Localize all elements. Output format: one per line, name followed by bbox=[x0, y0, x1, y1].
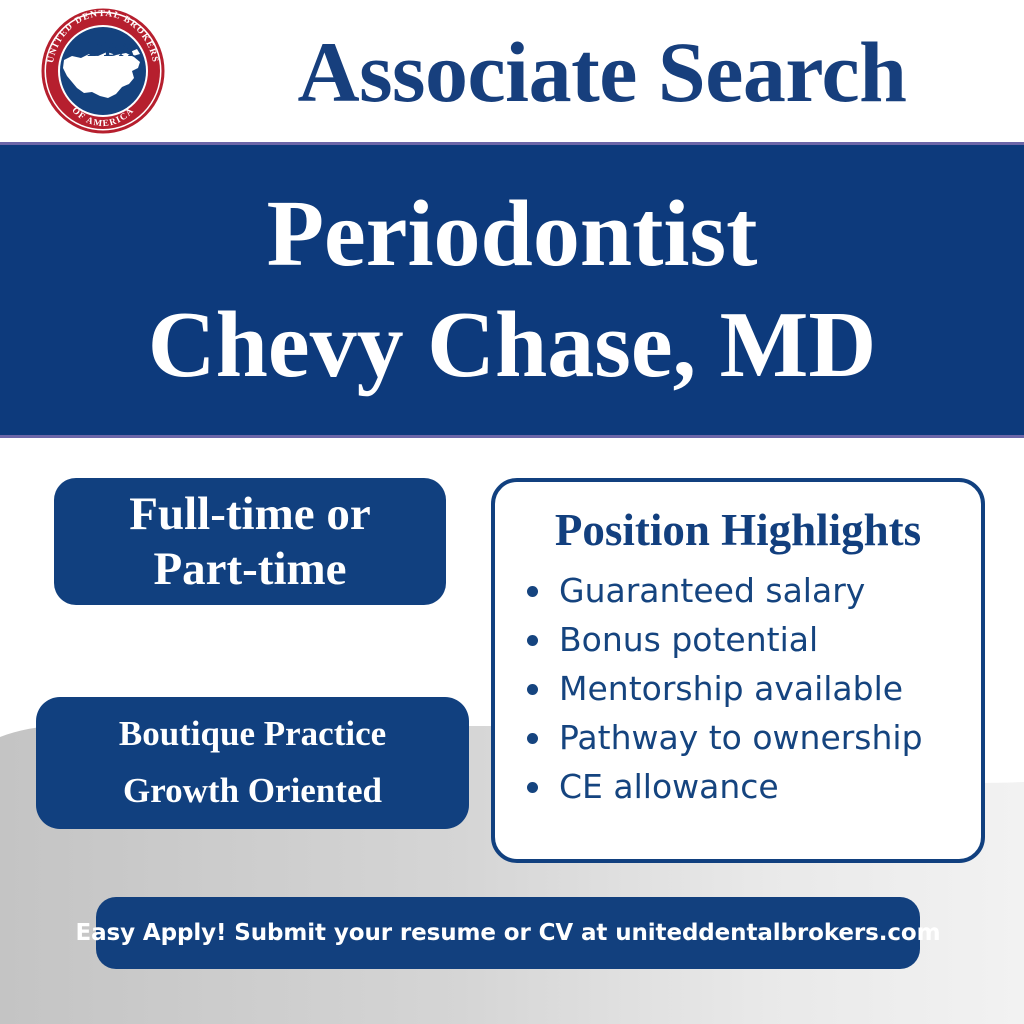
poster-header: UDBA UNITED DENTAL BROKERS OF AMERICA As… bbox=[0, 0, 1024, 141]
list-item: Guaranteed salary bbox=[519, 566, 981, 615]
list-item-label: CE allowance bbox=[559, 767, 779, 806]
list-item: CE allowance bbox=[519, 762, 981, 811]
job-posting-poster: UDBA UNITED DENTAL BROKERS OF AMERICA As… bbox=[0, 0, 1024, 1024]
badge-schedule: Full-time or Part-time bbox=[54, 478, 446, 605]
badge-practice-line-2: Growth Oriented bbox=[123, 763, 382, 820]
apply-cta-label: Easy Apply! Submit your resume or CV at … bbox=[75, 920, 940, 946]
bullet-dot-icon bbox=[527, 635, 538, 646]
badge-practice-line-1: Boutique Practice bbox=[119, 706, 386, 763]
udba-logo: UDBA UNITED DENTAL BROKERS OF AMERICA bbox=[34, 8, 172, 134]
apply-cta-bar[interactable]: Easy Apply! Submit your resume or CV at … bbox=[96, 897, 920, 969]
list-item: Bonus potential bbox=[519, 615, 981, 664]
badge-practice: Boutique Practice Growth Oriented bbox=[36, 697, 469, 829]
bullet-dot-icon bbox=[527, 733, 538, 744]
bullet-dot-icon bbox=[527, 586, 538, 597]
position-location: Chevy Chase, MD bbox=[148, 290, 876, 401]
list-item-label: Bonus potential bbox=[559, 620, 818, 659]
position-specialty: Periodontist bbox=[267, 179, 758, 290]
badge-schedule-line-2: Part-time bbox=[153, 542, 346, 597]
list-item: Mentorship available bbox=[519, 664, 981, 713]
bullet-dot-icon bbox=[527, 782, 538, 793]
position-highlights-title: Position Highlights bbox=[495, 504, 981, 556]
position-banner: Periodontist Chevy Chase, MD bbox=[0, 142, 1024, 438]
page-title: Associate Search bbox=[196, 16, 1008, 128]
list-item: Pathway to ownership bbox=[519, 713, 981, 762]
position-highlights-card: Position Highlights Guaranteed salary Bo… bbox=[491, 478, 985, 863]
position-highlights-list: Guaranteed salary Bonus potential Mentor… bbox=[495, 566, 981, 811]
list-item-label: Guaranteed salary bbox=[559, 571, 865, 610]
svg-text:UDBA: UDBA bbox=[71, 36, 135, 61]
bullet-dot-icon bbox=[527, 684, 538, 695]
list-item-label: Mentorship available bbox=[559, 669, 903, 708]
badge-schedule-line-1: Full-time or bbox=[129, 487, 370, 542]
list-item-label: Pathway to ownership bbox=[559, 718, 923, 757]
